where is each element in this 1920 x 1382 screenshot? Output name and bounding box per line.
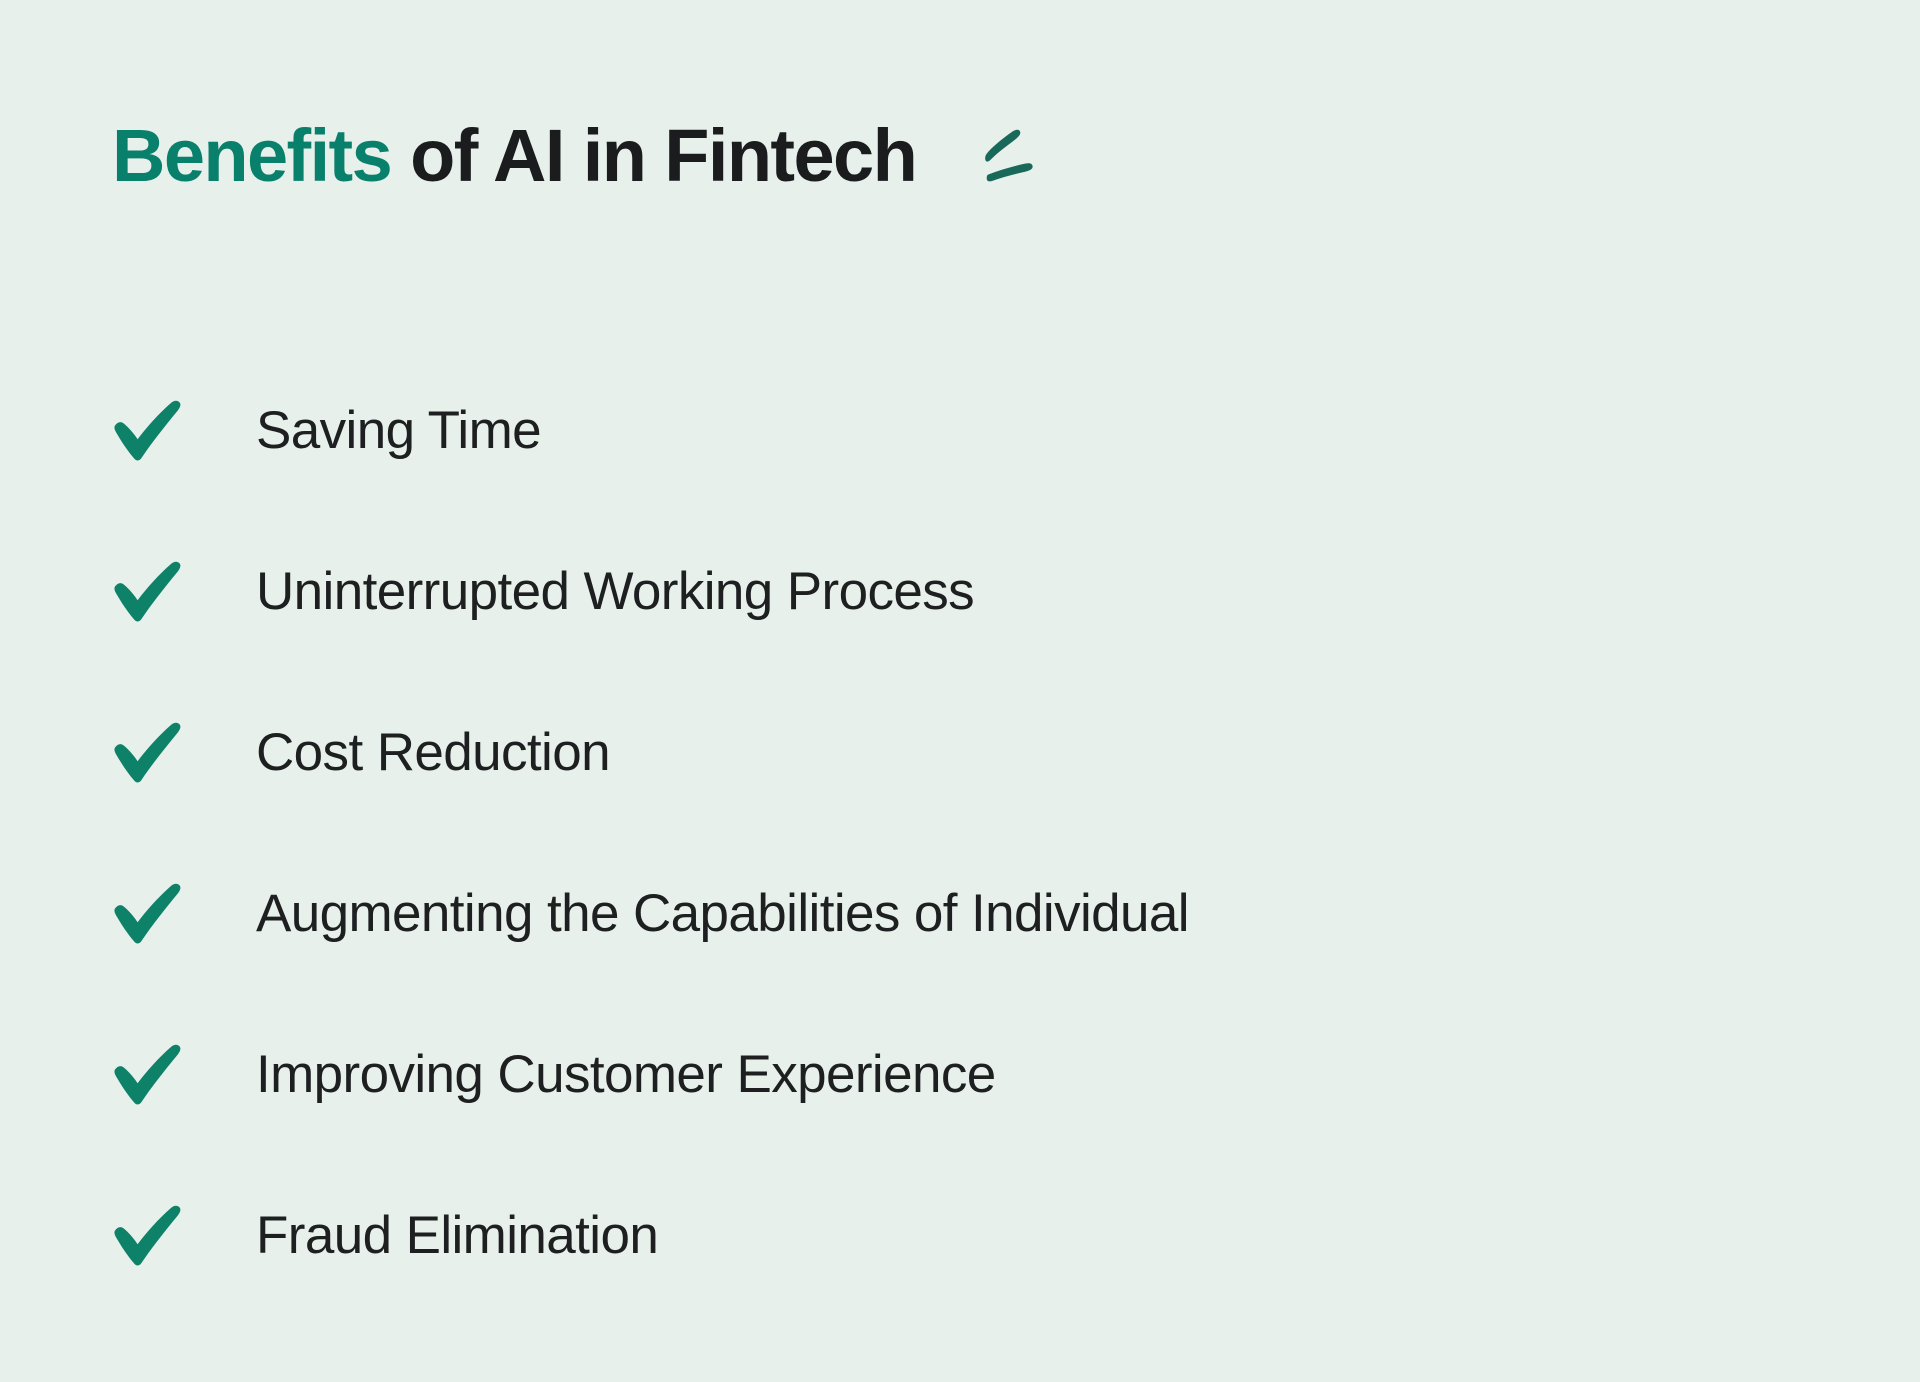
list-item-label: Saving Time xyxy=(256,400,541,461)
list-item-label: Improving Customer Experience xyxy=(256,1044,996,1105)
brush-stroke-accent-icon xyxy=(972,118,1054,200)
check-icon xyxy=(112,398,184,464)
list-item: Improving Customer Experience xyxy=(112,994,1812,1155)
page-title-accent: Benefits xyxy=(112,114,391,197)
benefits-list: Saving Time Uninterrupted Working Proces… xyxy=(112,350,1812,1316)
page-title-text: Benefits of AI in Fintech xyxy=(112,118,916,193)
check-icon xyxy=(112,559,184,625)
list-item-label: Fraud Elimination xyxy=(256,1205,658,1266)
list-item: Fraud Elimination xyxy=(112,1155,1812,1316)
list-item-label: Cost Reduction xyxy=(256,722,610,783)
check-icon-wrap xyxy=(112,878,208,950)
list-item: Uninterrupted Working Process xyxy=(112,511,1812,672)
check-icon-wrap xyxy=(112,556,208,628)
page-title-rest: of AI in Fintech xyxy=(391,114,916,197)
page-title: Benefits of AI in Fintech xyxy=(112,112,1054,200)
check-icon xyxy=(112,720,184,786)
check-icon xyxy=(112,1042,184,1108)
list-item: Cost Reduction xyxy=(112,672,1812,833)
check-icon xyxy=(112,881,184,947)
slide-canvas: Benefits of AI in Fintech Saving Time xyxy=(0,0,1920,1382)
check-icon-wrap xyxy=(112,717,208,789)
list-item: Augmenting the Capabilities of Individua… xyxy=(112,833,1812,994)
check-icon-wrap xyxy=(112,1039,208,1111)
list-item-label: Augmenting the Capabilities of Individua… xyxy=(256,883,1189,944)
check-icon xyxy=(112,1203,184,1269)
list-item: Saving Time xyxy=(112,350,1812,511)
check-icon-wrap xyxy=(112,395,208,467)
check-icon-wrap xyxy=(112,1200,208,1272)
list-item-label: Uninterrupted Working Process xyxy=(256,561,974,622)
